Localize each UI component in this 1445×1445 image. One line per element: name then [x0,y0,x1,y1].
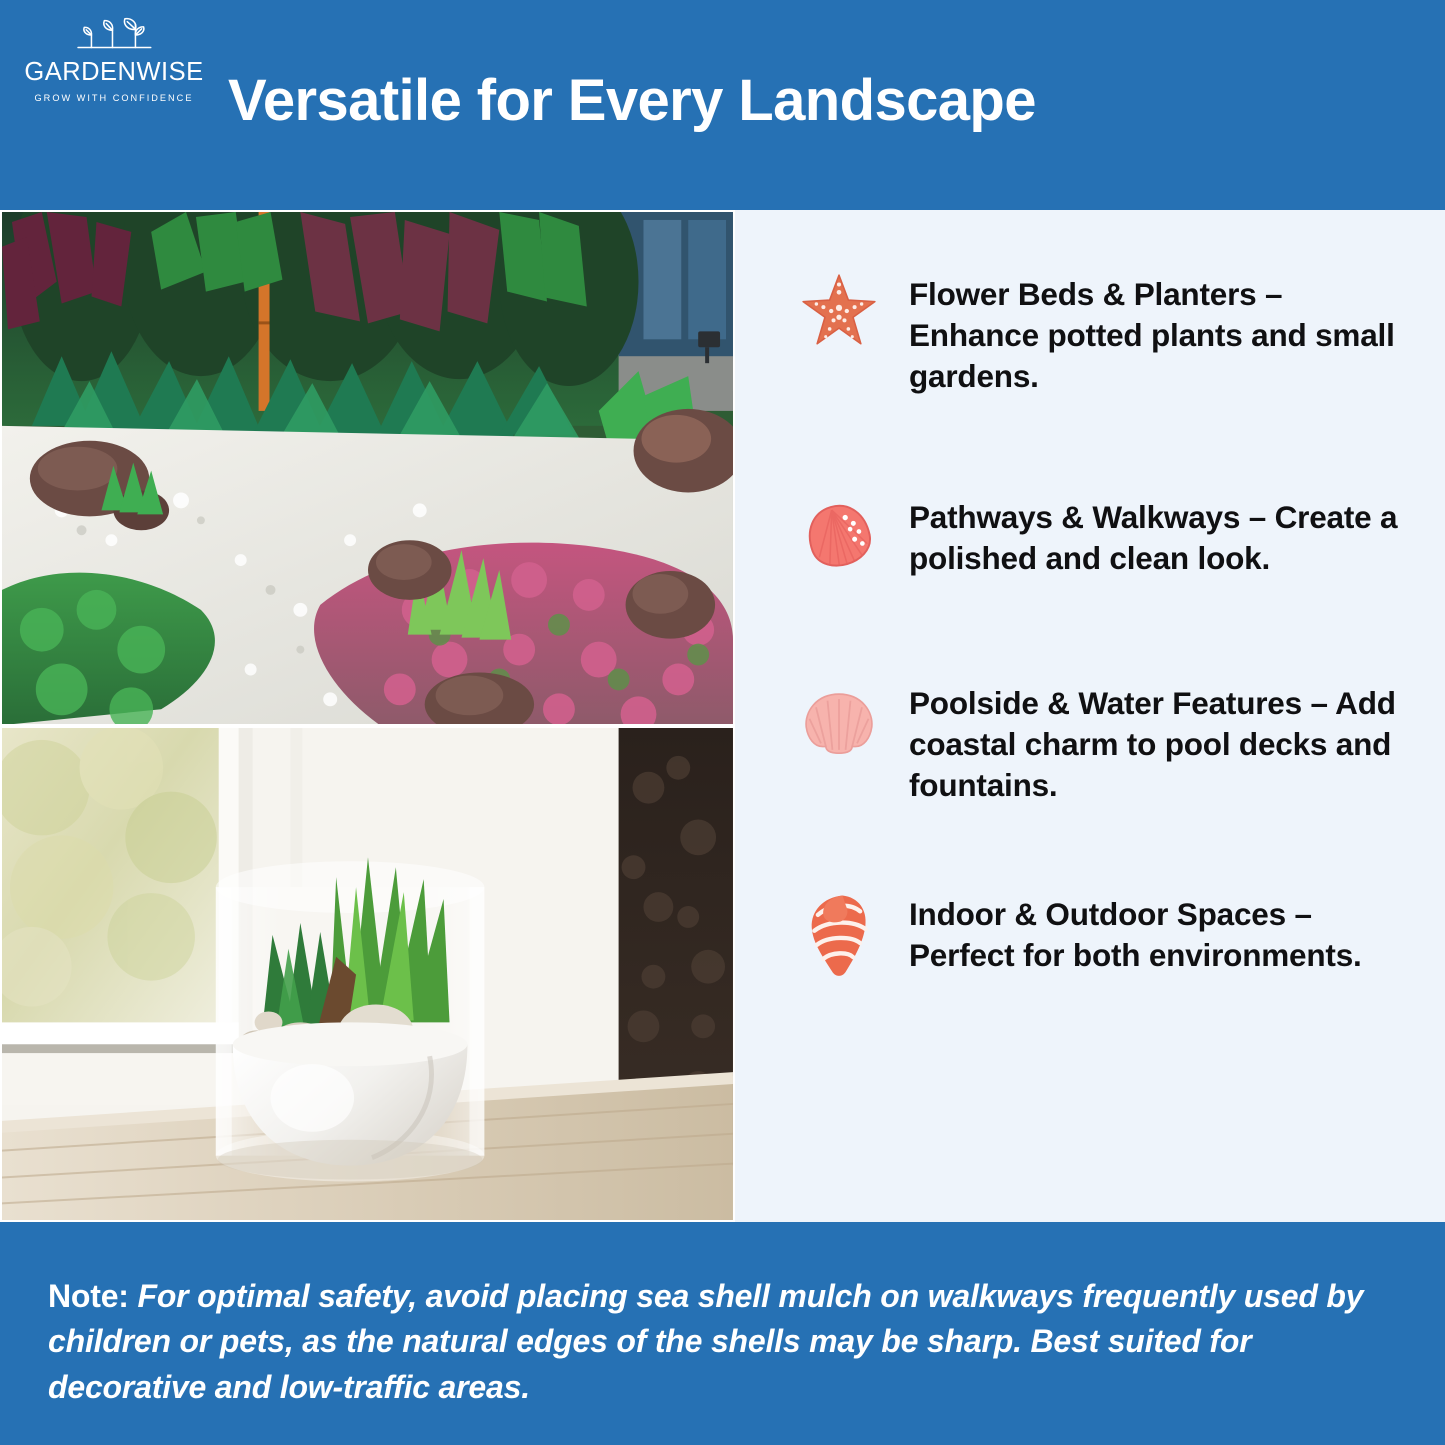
feature-item-label: Poolside & Water Features – Add coastal … [887,679,1399,806]
feature-item-pathways: Pathways & Walkways – Create a polished … [791,493,1399,585]
feature-item-flower-beds: Flower Beds & Planters – Enhance potted … [791,270,1399,397]
feature-item-label: Flower Beds & Planters – Enhance potted … [887,270,1399,397]
safety-note: Note: For optimal safety, avoid placing … [48,1274,1383,1410]
header-bar: GARDENWISE GROW WITH CONFIDENCE Versatil… [0,0,1445,210]
feature-list: Flower Beds & Planters – Enhance potted … [735,210,1445,1222]
feature-item-indoor-outdoor: Indoor & Outdoor Spaces – Perfect for bo… [791,890,1399,982]
brand-logo: GARDENWISE GROW WITH CONFIDENCE [14,14,214,103]
feature-item-label: Pathways & Walkways – Create a polished … [887,493,1399,579]
note-body: For optimal safety, avoid placing sea sh… [48,1278,1363,1405]
conch-shell-icon [791,890,887,982]
seedling-sprouts-icon [57,14,172,58]
garden-bed-illustration [2,212,733,725]
footer-bar: Note: For optimal safety, avoid placing … [0,1222,1445,1445]
brand-tagline: GROW WITH CONFIDENCE [14,93,214,103]
starfish-icon [791,270,887,362]
infographic-page: GARDENWISE GROW WITH CONFIDENCE Versatil… [0,0,1445,1445]
scallop-shell-icon [791,679,887,771]
feature-item-label: Indoor & Outdoor Spaces – Perfect for bo… [887,890,1399,976]
photo-column [0,210,735,1222]
main-content: Flower Beds & Planters – Enhance potted … [0,210,1445,1222]
page-title: Versatile for Every Landscape [228,70,1405,131]
garden-bed-photo [0,210,735,726]
brand-name: GARDENWISE [14,60,214,86]
feature-item-poolside: Poolside & Water Features – Add coastal … [791,679,1399,806]
windowsill-planter-illustration [2,728,733,1222]
fan-shell-icon [791,493,887,585]
windowsill-planter-photo [0,726,735,1222]
note-label: Note: [48,1278,129,1314]
